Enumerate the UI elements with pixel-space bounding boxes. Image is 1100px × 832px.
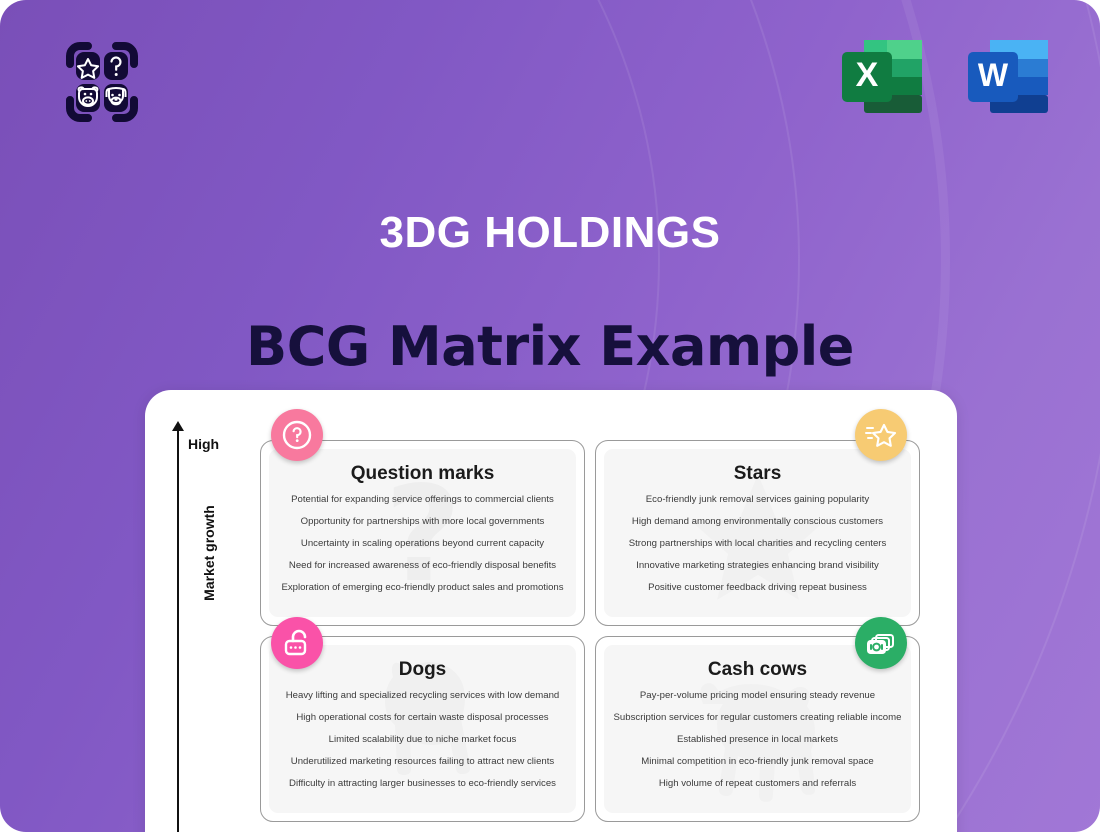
quadrant-title: Cash cows xyxy=(708,659,807,681)
list-item: Established presence in local markets xyxy=(604,734,911,745)
badge-cash-cows[interactable] xyxy=(855,617,907,669)
svg-text:X: X xyxy=(856,56,879,94)
list-item: High demand among environmentally consci… xyxy=(604,516,911,527)
brand-title: 3DG HOLDINGS xyxy=(0,208,1100,258)
list-item: Potential for expanding service offering… xyxy=(269,494,576,505)
list-item: Pay-per-volume pricing model ensuring st… xyxy=(604,690,911,701)
quadrant-inner: Stars Eco-friendly junk removal services… xyxy=(604,449,911,617)
star-icon xyxy=(863,417,899,453)
axis-high-label: High xyxy=(188,436,219,452)
list-item: Opportunity for partnerships with more l… xyxy=(269,516,576,527)
office-icons: X W xyxy=(834,28,1056,124)
axis-vertical-label: Market growth xyxy=(201,483,217,623)
quadrant-stars[interactable]: Stars Eco-friendly junk removal services… xyxy=(595,440,920,626)
list-item: Need for increased awareness of eco-frie… xyxy=(269,560,576,571)
list-item: Positive customer feedback driving repea… xyxy=(604,582,911,593)
list-item: Heavy lifting and specialized recycling … xyxy=(269,690,576,701)
quadrant-inner: Cash cows Pay-per-volume pricing model e… xyxy=(604,645,911,813)
list-item: Minimal competition in eco-friendly junk… xyxy=(604,756,911,767)
quadrant-title: Question marks xyxy=(351,463,495,485)
word-icon: W xyxy=(960,28,1056,124)
logo-svg xyxy=(48,28,156,136)
quadrant-title: Stars xyxy=(734,463,782,485)
bcg-matrix: ? Question marks Potential for expanding… xyxy=(260,440,920,822)
quadrant-question-marks[interactable]: ? Question marks Potential for expanding… xyxy=(260,440,585,626)
open-padlock-icon xyxy=(280,626,314,660)
slide-canvas: X W 3DG HOLDINGS BCG Matrix Example High… xyxy=(0,0,1100,832)
badge-dogs[interactable] xyxy=(271,617,323,669)
vertical-axis-line xyxy=(177,428,179,832)
quadrant-items: Heavy lifting and specialized recycling … xyxy=(269,690,576,800)
quadrant-title: Dogs xyxy=(399,659,447,681)
excel-icon: X xyxy=(834,28,930,124)
quadrant-items: Potential for expanding service offering… xyxy=(269,494,576,604)
list-item: High operational costs for certain waste… xyxy=(269,712,576,723)
list-item: Innovative marketing strategies enhancin… xyxy=(604,560,911,571)
list-item: Difficulty in attracting larger business… xyxy=(269,778,576,789)
svg-text:W: W xyxy=(978,57,1009,93)
list-item: Underutilized marketing resources failin… xyxy=(269,756,576,767)
list-item: Subscription services for regular custom… xyxy=(604,712,911,723)
list-item: Eco-friendly junk removal services gaini… xyxy=(604,494,911,505)
banknotes-icon xyxy=(864,626,898,660)
page-title: BCG Matrix Example xyxy=(0,315,1100,378)
list-item: Exploration of emerging eco-friendly pro… xyxy=(269,582,576,593)
list-item: Uncertainty in scaling operations beyond… xyxy=(269,538,576,549)
quadrant-inner: Dogs Heavy lifting and specialized recyc… xyxy=(269,645,576,813)
list-item: Strong partnerships with local charities… xyxy=(604,538,911,549)
quadrant-items: Pay-per-volume pricing model ensuring st… xyxy=(604,690,911,800)
question-mark-icon xyxy=(280,418,314,452)
list-item: High volume of repeat customers and refe… xyxy=(604,778,911,789)
3dg-holdings-logo xyxy=(48,28,156,136)
badge-question-marks[interactable] xyxy=(271,409,323,461)
badge-stars[interactable] xyxy=(855,409,907,461)
quadrant-items: Eco-friendly junk removal services gaini… xyxy=(604,494,911,604)
list-item: Limited scalability due to niche market … xyxy=(269,734,576,745)
quadrant-inner: ? Question marks Potential for expanding… xyxy=(269,449,576,617)
